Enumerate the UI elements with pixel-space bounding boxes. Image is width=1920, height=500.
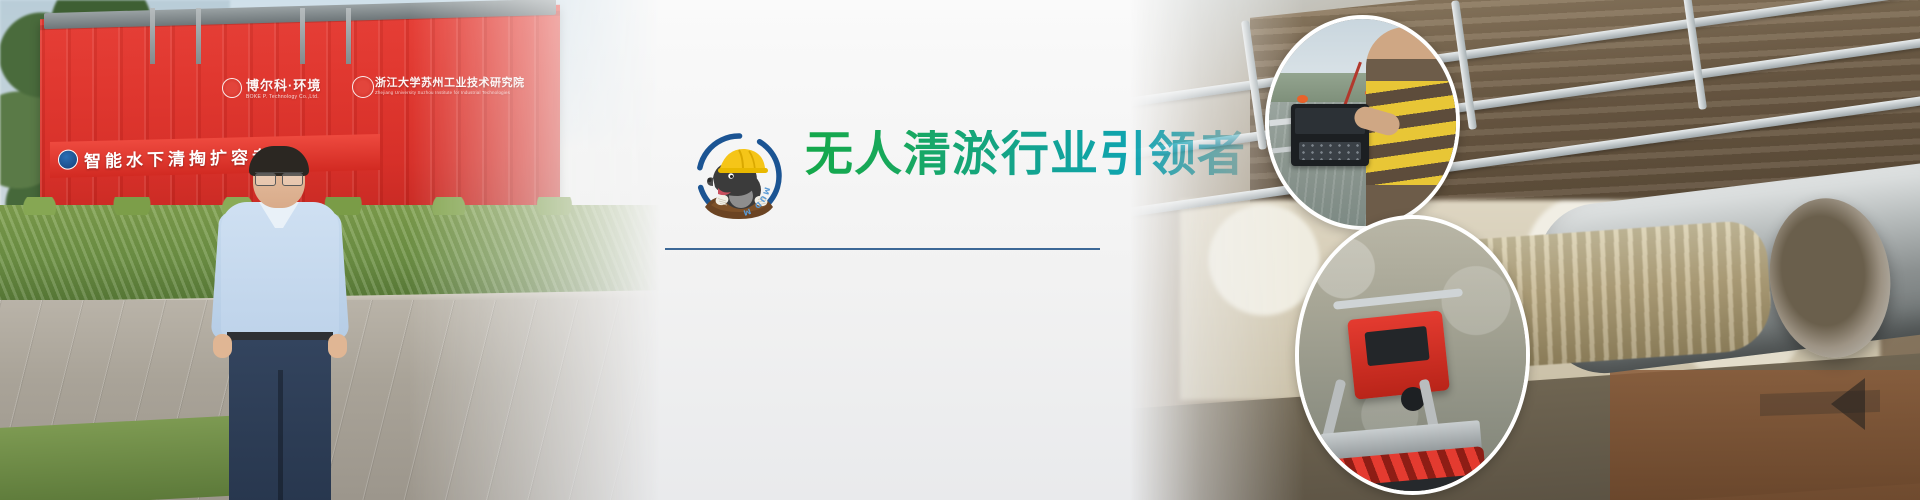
right-hand — [328, 334, 347, 358]
left-hand — [213, 334, 232, 358]
glasses-icon — [255, 172, 303, 183]
hero-banner: 博尔科·环境 BOKE P. Technology Co.,Ltd. 浙江大学苏… — [0, 0, 1920, 500]
mud-mole-logo: MUD MOLE — [689, 126, 789, 226]
container-brand-primary: 博尔科·环境 BOKE P. Technology Co.,Ltd. — [246, 75, 321, 100]
container-brand-primary-sub: BOKE P. Technology Co.,Ltd. — [246, 94, 321, 100]
slogan-logo-icon — [58, 149, 78, 169]
engineer-figure — [215, 150, 345, 500]
left-photo: 博尔科·环境 BOKE P. Technology Co.,Ltd. 浙江大学苏… — [0, 0, 660, 500]
container-brand-secondary: 浙江大学苏州工业技术研究院 Zhejiang University Suzhou… — [375, 74, 525, 95]
robot-body — [1347, 310, 1450, 399]
red-dredging-robot-photo — [1295, 215, 1530, 495]
operator-with-remote-controller-photo — [1265, 15, 1460, 230]
divider-line — [665, 248, 1100, 250]
container-posts — [150, 8, 450, 66]
trousers — [229, 340, 331, 500]
center-content: MUD MOLE 无人清淤行业引领者 — [660, 0, 1130, 500]
buoy-marker — [1297, 95, 1308, 103]
university-seal-icon — [352, 76, 374, 98]
brand-seal-icon — [222, 78, 242, 98]
container-brand-secondary-sub: Zhejiang University Suzhou Institute for… — [375, 90, 525, 95]
arrow-head-watermark — [1831, 378, 1865, 430]
